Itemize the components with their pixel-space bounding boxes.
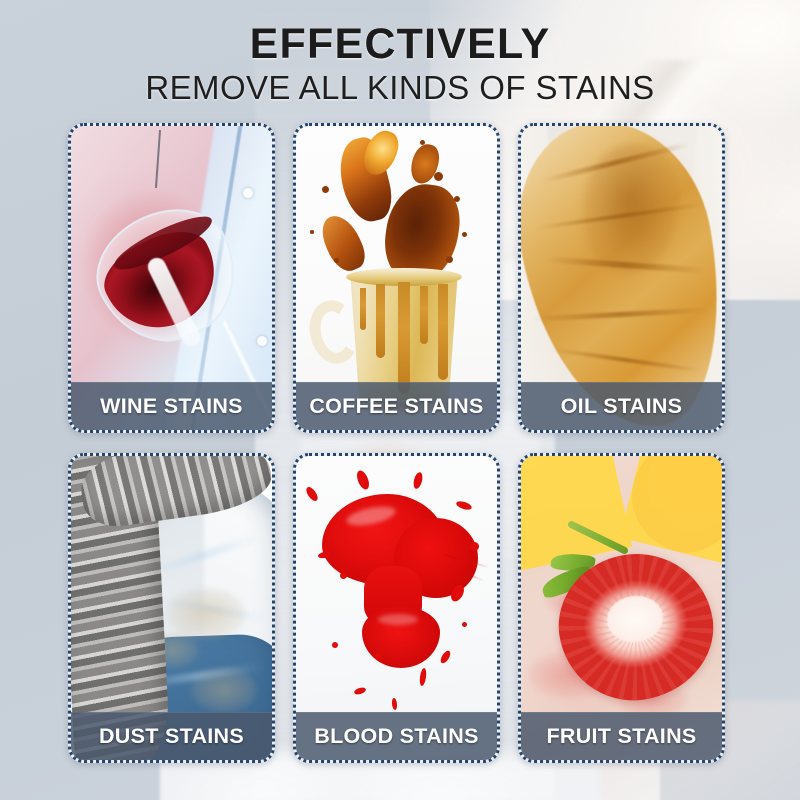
coffee-droplet-5 bbox=[334, 258, 339, 263]
blood-speck-5 bbox=[340, 572, 347, 579]
strawberry-seeds-right bbox=[620, 456, 722, 563]
stain-card-label-bar-fruit: FRUIT STAINS bbox=[521, 712, 722, 760]
stain-card-label-oil: OIL STAINS bbox=[561, 394, 683, 419]
coffee-drip-4 bbox=[438, 284, 448, 380]
stain-card-label-dust: DUST STAINS bbox=[99, 724, 244, 749]
stain-card-label-bar-oil: OIL STAINS bbox=[521, 382, 722, 430]
blood-speck-12 bbox=[353, 686, 366, 695]
coffee-droplet-3 bbox=[322, 186, 329, 193]
blood-speck-2 bbox=[455, 500, 472, 512]
stain-card-label-bar-blood: BLOOD STAINS bbox=[296, 712, 497, 760]
coffee-droplet-1 bbox=[434, 172, 443, 181]
coffee-droplet-4 bbox=[462, 232, 467, 237]
coffee-drip-3 bbox=[420, 286, 428, 344]
blood-speck-8 bbox=[412, 471, 424, 489]
stain-card-coffee[interactable]: COFFEE STAINS bbox=[293, 123, 500, 433]
blood-speck-3 bbox=[470, 542, 479, 551]
blood-speck-9 bbox=[332, 642, 338, 648]
page-heading: EFFECTIVELY REMOVE ALL KINDS OF STAINS bbox=[0, 22, 800, 106]
stain-card-label-fruit: FRUIT STAINS bbox=[546, 724, 696, 749]
coffee-drip-1 bbox=[376, 284, 385, 358]
stain-card-label-coffee: COFFEE STAINS bbox=[309, 394, 483, 419]
coffee-splash-shape-4 bbox=[316, 210, 371, 277]
stain-card-label-bar-coffee: COFFEE STAINS bbox=[296, 382, 497, 430]
stain-card-label-bar-dust: DUST STAINS bbox=[71, 712, 272, 760]
coffee-drip-2 bbox=[398, 282, 410, 394]
stain-card-label-bar-wine: WINE STAINS bbox=[71, 382, 272, 430]
coffee-droplet-7 bbox=[310, 230, 314, 234]
stain-card-label-blood: BLOOD STAINS bbox=[314, 724, 478, 749]
coffee-droplet-2 bbox=[454, 196, 460, 202]
dust-smudge-2 bbox=[191, 668, 257, 712]
blood-speck-13 bbox=[419, 668, 427, 687]
blood-speck-15 bbox=[391, 698, 397, 710]
coffee-droplet-8 bbox=[420, 140, 425, 145]
shirt-button-shape-2 bbox=[257, 336, 267, 346]
stain-card-oil[interactable]: OIL STAINS bbox=[518, 123, 725, 433]
stain-card-label-wine: WINE STAINS bbox=[100, 394, 243, 419]
blood-speck-14 bbox=[462, 622, 467, 627]
stain-card-fruit[interactable]: FRUIT STAINS bbox=[518, 453, 725, 763]
stain-card-wine[interactable]: WINE STAINS bbox=[68, 123, 275, 433]
shirt-dark-seam-shape bbox=[155, 130, 161, 188]
blood-speck-11 bbox=[439, 649, 452, 665]
blood-highlight-2 bbox=[378, 614, 418, 625]
coffee-droplet-6 bbox=[446, 256, 453, 263]
stain-card-dust[interactable]: DUST STAINS bbox=[68, 453, 275, 763]
strawberry-whole-right-shape bbox=[620, 456, 722, 563]
page-subtitle: REMOVE ALL KINDS OF STAINS bbox=[0, 71, 800, 106]
stain-card-blood[interactable]: BLOOD STAINS bbox=[293, 453, 500, 763]
blood-speck-7 bbox=[355, 469, 372, 491]
stain-type-grid: WINE STAINS bbox=[68, 123, 734, 763]
coffee-drip-5 bbox=[360, 288, 366, 330]
blood-speck-1 bbox=[304, 485, 320, 503]
blood-speck-10 bbox=[374, 654, 383, 659]
page-title: EFFECTIVELY bbox=[0, 22, 800, 67]
shirt-button-shape bbox=[243, 188, 253, 198]
